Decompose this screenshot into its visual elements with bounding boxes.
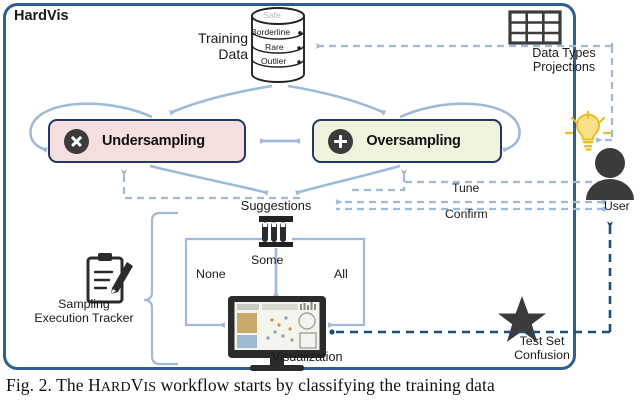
arrow-suggestions-to-undersampling — [124, 170, 300, 198]
cylinder-slice-safe: Safe — [263, 10, 281, 20]
visualization-label: Visualization — [272, 350, 342, 364]
user-label: User — [604, 200, 630, 214]
test-set-line1: Test Set — [514, 335, 570, 349]
test-set-confusion-label: Test Set Confusion — [514, 335, 570, 363]
table-grid-icon — [510, 12, 560, 43]
cylinder-slice-outlier: Outlier — [261, 56, 286, 66]
tune-label: Tune — [452, 182, 479, 196]
caption-hardvis-is: IS — [143, 380, 156, 395]
oversampling-label: Oversampling — [353, 133, 500, 149]
data-types-line2: Projections — [532, 60, 595, 74]
training-data-label-line2: Data — [188, 47, 248, 63]
figure-root: HardVis Training Data Safe Borderline Ra… — [0, 0, 640, 405]
figure-caption: Fig. 2. The HARDVIS workflow starts by c… — [6, 375, 636, 396]
tracker-line2: Execution Tracker — [34, 312, 133, 326]
arrow-oversampling-to-suggestions — [296, 166, 400, 193]
caption-text-a: The — [56, 375, 88, 395]
x-circle-icon — [64, 129, 89, 154]
confirm-label: Confirm — [445, 208, 488, 222]
lightbulb-icon — [566, 112, 610, 150]
suggestions-label: Suggestions — [241, 199, 311, 213]
cylinder-slice-borderline: Borderline — [251, 27, 290, 37]
data-types-label: Data Types Projections — [532, 46, 595, 74]
caption-hardvis-v: V — [131, 375, 144, 395]
test-tubes-icon — [259, 216, 293, 247]
tracker-line1: Sampling — [34, 298, 133, 312]
cylinder-slice-rare: Rare — [265, 42, 284, 52]
some-branch-label: Some — [251, 254, 283, 268]
arrow-trainingdata-to-undersampling — [170, 86, 272, 113]
plus-circle-icon — [328, 129, 353, 154]
clipboard-pencil-icon — [88, 253, 133, 302]
tracker-brace — [144, 213, 178, 364]
training-data-label: Training Data — [188, 31, 248, 62]
all-branch-label: All — [334, 268, 348, 282]
sampling-execution-tracker-label: Sampling Execution Tracker — [34, 298, 133, 326]
oversampling-node[interactable]: Oversampling — [312, 119, 502, 163]
data-types-line1: Data Types — [532, 46, 595, 60]
arrow-trainingdata-to-oversampling — [288, 86, 385, 113]
test-set-line2: Confusion — [514, 349, 570, 363]
caption-hardvis-ard: ARD — [101, 380, 131, 395]
none-branch-label: None — [196, 268, 226, 282]
arrow-undersampling-to-suggestions — [150, 166, 268, 193]
page-title: HardVis — [14, 8, 69, 24]
caption-hardvis-h: H — [88, 375, 101, 395]
caption-prefix: Fig. 2. — [6, 375, 52, 395]
undersampling-label: Undersampling — [89, 133, 244, 149]
undersampling-node[interactable]: Undersampling — [48, 119, 246, 163]
caption-text-b: workflow starts by classifying the train… — [156, 375, 495, 395]
user-person-icon — [586, 148, 634, 200]
training-data-label-line1: Training — [188, 31, 248, 47]
